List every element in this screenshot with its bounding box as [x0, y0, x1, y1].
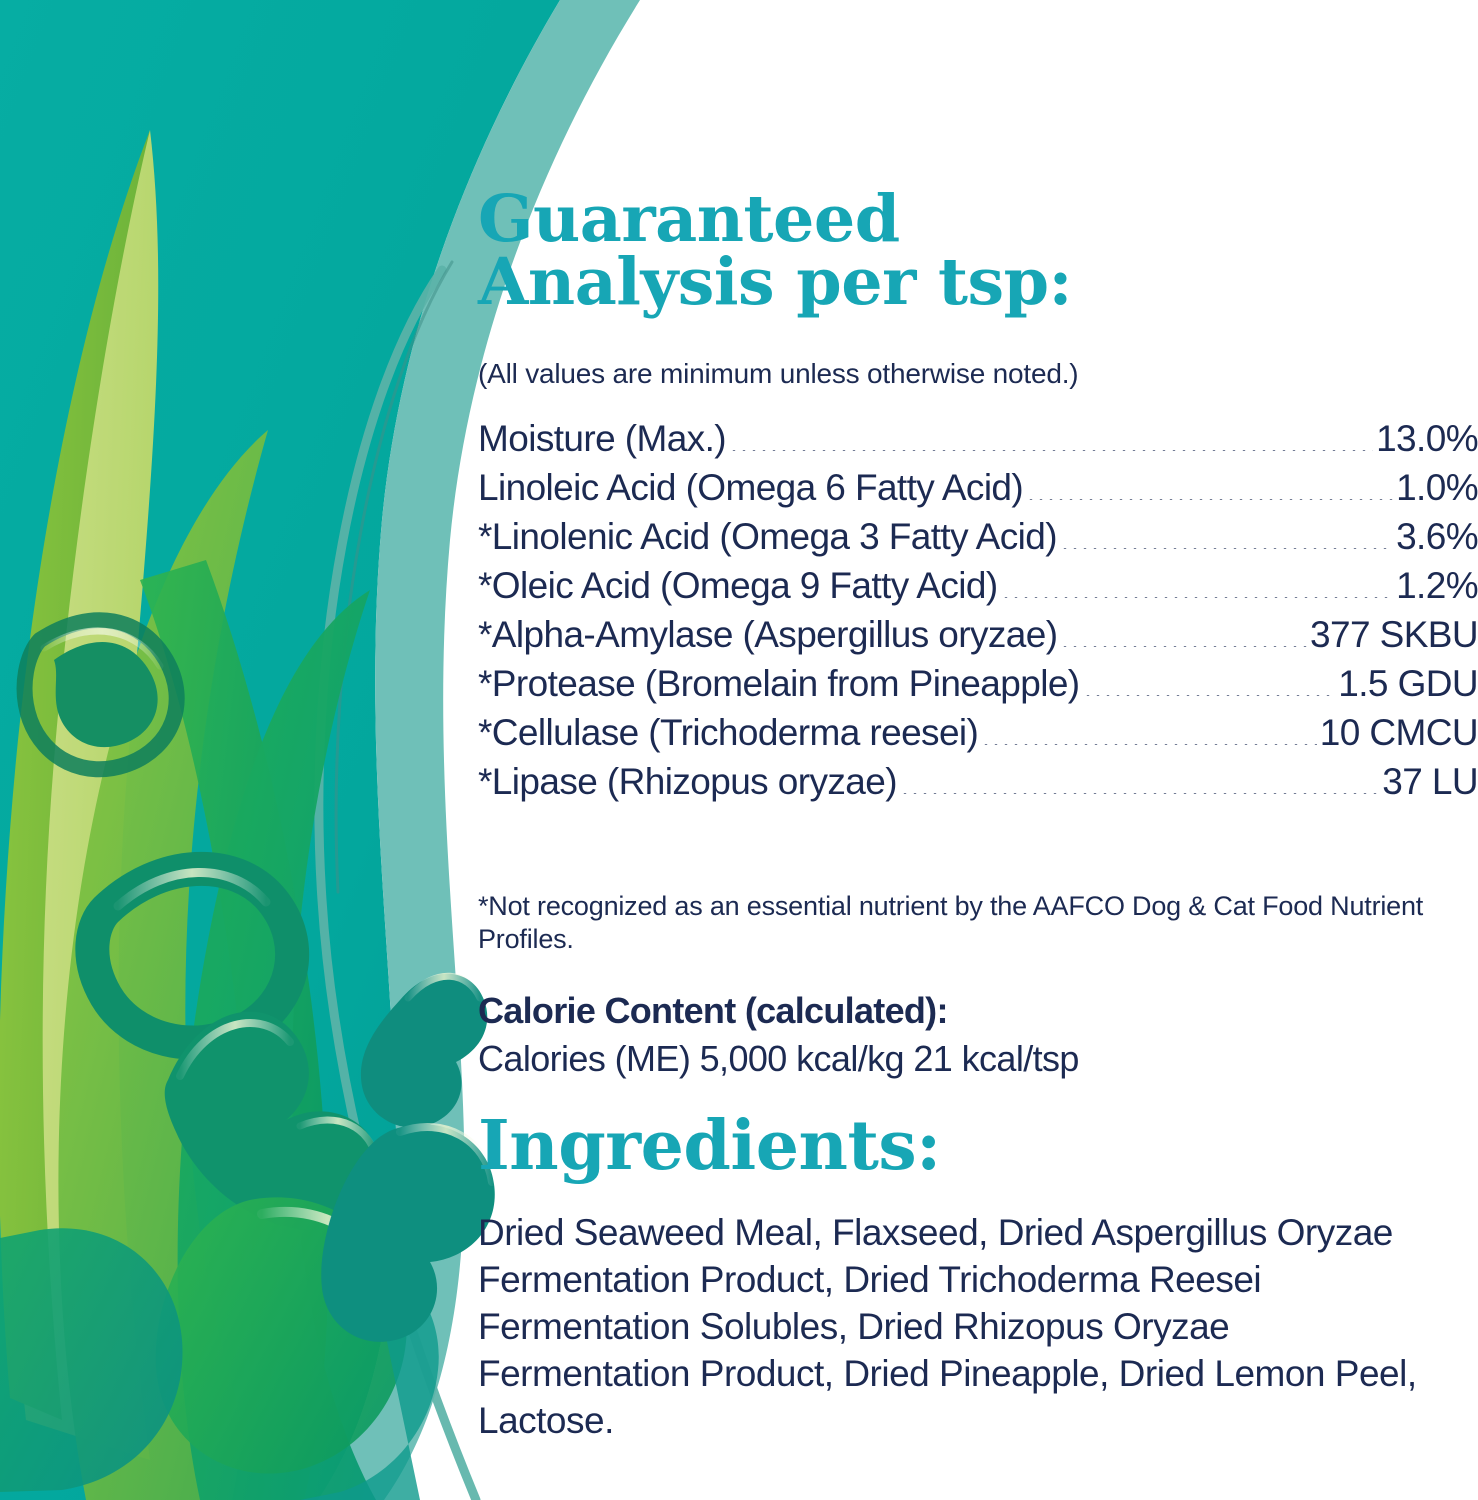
analysis-value: 1.5 GDU	[1338, 663, 1478, 705]
analysis-label: *Alpha-Amylase (Aspergillus oryzae)	[478, 614, 1057, 656]
dot-leader	[1026, 499, 1393, 500]
analysis-row: *Alpha-Amylase (Aspergillus oryzae) 377 …	[478, 614, 1478, 663]
dot-leader	[1060, 646, 1307, 647]
analysis-label: Moisture (Max.)	[478, 418, 726, 460]
analysis-row: *Protease (Bromelain from Pineapple) 1.5…	[478, 663, 1478, 712]
calorie-content-heading: Calorie Content (calculated):	[478, 990, 1079, 1032]
calorie-content-section: Calorie Content (calculated): Calories (…	[478, 990, 1079, 1081]
ingredients-title: Ingredients:	[478, 1114, 941, 1180]
analysis-label: *Oleic Acid (Omega 9 Fatty Acid)	[478, 565, 998, 607]
dot-leader	[900, 793, 1379, 794]
analysis-label: *Linolenic Acid (Omega 3 Fatty Acid)	[478, 516, 1057, 558]
dot-leader	[729, 450, 1373, 451]
label-panel: Guaranteed Analysis per tsp: (All values…	[0, 0, 1478, 1500]
analysis-value: 1.0%	[1396, 467, 1478, 509]
calorie-content-line: Calories (ME) 5,000 kcal/kg 21 kcal/tsp	[478, 1036, 1079, 1081]
guaranteed-analysis-subtitle: (All values are minimum unless otherwise…	[478, 358, 1078, 390]
guaranteed-analysis-table: Moisture (Max.) 13.0% Linoleic Acid (Ome…	[478, 418, 1478, 810]
dot-leader	[1083, 695, 1336, 696]
analysis-row: Linoleic Acid (Omega 6 Fatty Acid) 1.0%	[478, 467, 1478, 516]
analysis-value: 10 CMCU	[1320, 712, 1478, 754]
analysis-row: *Oleic Acid (Omega 9 Fatty Acid) 1.2%	[478, 565, 1478, 614]
dot-leader	[1001, 597, 1394, 598]
content-column: Guaranteed Analysis per tsp: (All values…	[478, 0, 1478, 1500]
analysis-row: *Cellulase (Trichoderma reesei) 10 CMCU	[478, 712, 1478, 761]
analysis-label: *Protease (Bromelain from Pineapple)	[478, 663, 1080, 705]
analysis-value: 1.2%	[1396, 565, 1478, 607]
analysis-value: 13.0%	[1376, 418, 1478, 460]
analysis-row: Moisture (Max.) 13.0%	[478, 418, 1478, 467]
analysis-label: *Lipase (Rhizopus oryzae)	[478, 761, 897, 803]
guaranteed-analysis-title: Guaranteed Analysis per tsp:	[478, 188, 1072, 314]
analysis-value: 3.6%	[1396, 516, 1478, 558]
dot-leader	[1060, 548, 1393, 549]
dot-leader	[981, 744, 1317, 745]
analysis-value: 37 LU	[1382, 761, 1478, 803]
aafco-footnote: *Not recognized as an essential nutrient…	[478, 890, 1468, 957]
analysis-row: *Linolenic Acid (Omega 3 Fatty Acid) 3.6…	[478, 516, 1478, 565]
analysis-label: *Cellulase (Trichoderma reesei)	[478, 712, 978, 754]
analysis-label: Linoleic Acid (Omega 6 Fatty Acid)	[478, 467, 1023, 509]
ingredients-body: Dried Seaweed Meal, Flaxseed, Dried Aspe…	[478, 1210, 1443, 1445]
analysis-value: 377 SKBU	[1310, 614, 1478, 656]
analysis-row: *Lipase (Rhizopus oryzae) 37 LU	[478, 761, 1478, 810]
